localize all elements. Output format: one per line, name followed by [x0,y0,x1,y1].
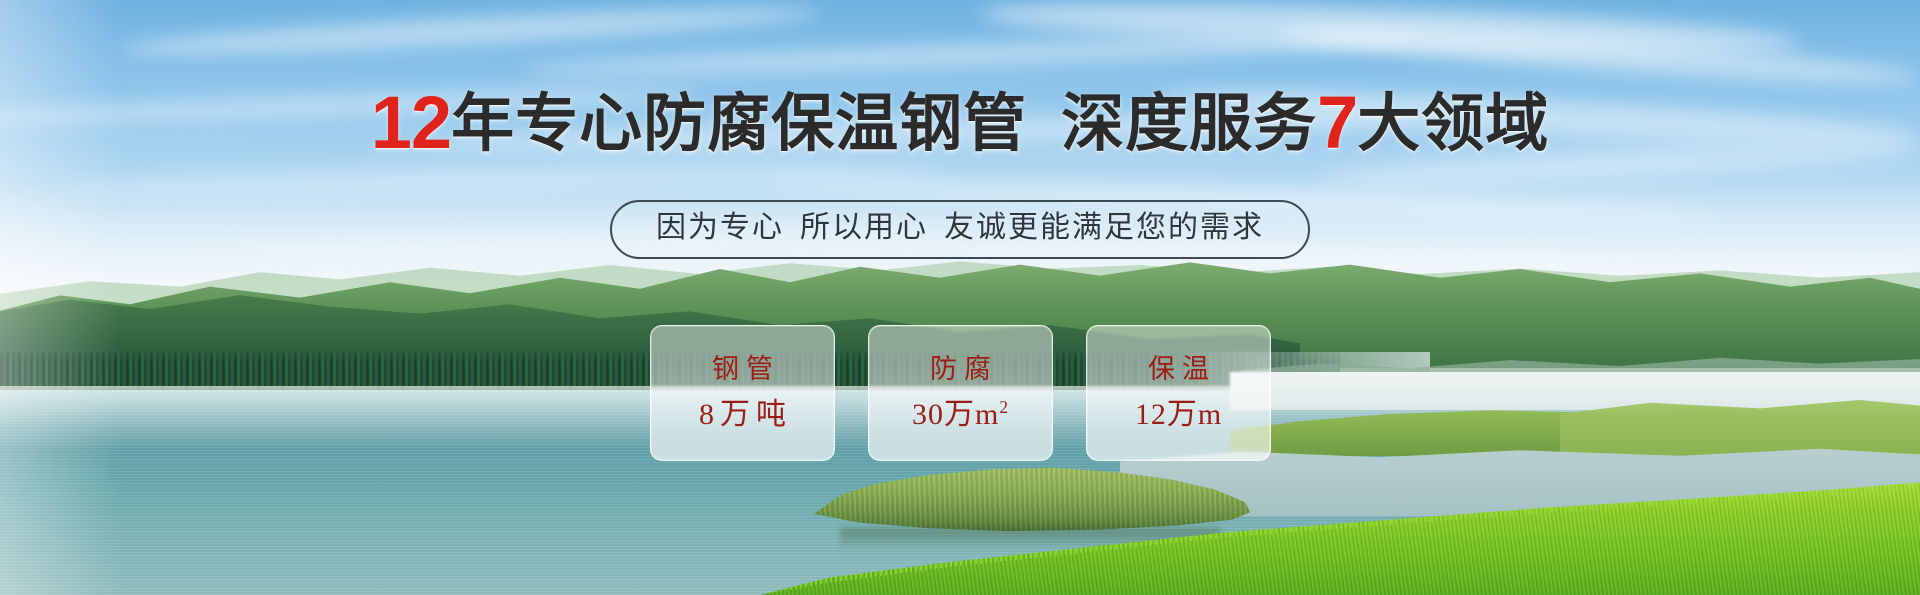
subtitle-segment-3: 友诚更能满足您的需求 [944,211,1264,244]
stat-card-value-superscript: 2 [999,397,1009,417]
stat-card-value-text: 12万m [1135,398,1222,431]
subtitle-segment-2: 所以用心 [800,211,928,244]
stat-card-value-text: 30万m [912,398,999,431]
stat-card-list: 钢管 8万吨 防腐 30万m2 保温 12万m [650,325,1271,461]
stat-card-value: 8万吨 [693,399,792,430]
banner-content: 12年专心防腐保温钢管深度服务7大领域 因为专心所以用心友诚更能满足您的需求 钢… [0,0,1920,595]
stat-card-label: 钢管 [705,356,780,383]
stat-card-insulation[interactable]: 保温 12万m [1086,325,1271,461]
stat-card-steel-pipe[interactable]: 钢管 8万吨 [650,325,835,461]
headline-text-part3: 大领域 [1357,89,1549,159]
headline-years-number: 12 [371,81,451,164]
stat-card-label: 防腐 [923,356,998,383]
stat-card-anticorrosion[interactable]: 防腐 30万m2 [868,325,1053,461]
headline-text-part1: 年专心防腐保温钢管 [451,89,1027,159]
hero-banner: 12年专心防腐保温钢管深度服务7大领域 因为专心所以用心友诚更能满足您的需求 钢… [0,0,1920,595]
headline: 12年专心防腐保温钢管深度服务7大领域 [0,86,1920,160]
subtitle-pill: 因为专心所以用心友诚更能满足您的需求 [610,200,1310,259]
headline-text-part2: 深度服务 [1061,89,1317,159]
stat-card-value: 12万m [1135,399,1222,430]
stat-card-label: 保温 [1141,356,1216,383]
subtitle-segment-1: 因为专心 [656,211,784,244]
headline-fields-number: 7 [1317,81,1357,164]
stat-card-value: 30万m2 [912,399,1009,430]
stat-card-value-text: 8万吨 [699,398,792,431]
